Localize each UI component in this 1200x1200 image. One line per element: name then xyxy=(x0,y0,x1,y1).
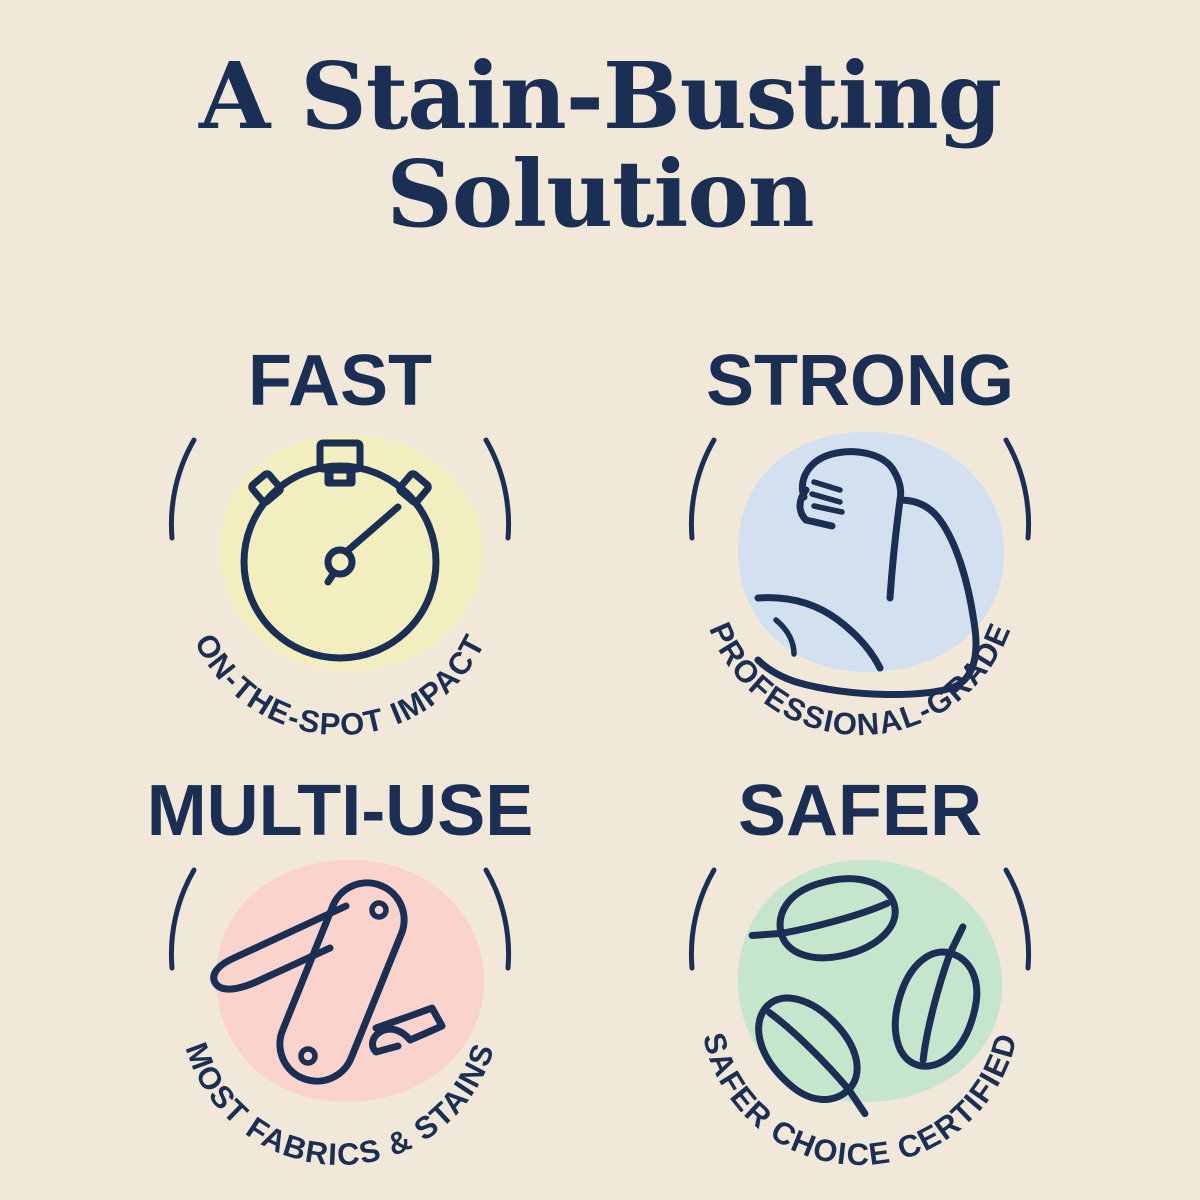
title-line-1: A Stain-Busting xyxy=(199,42,1001,150)
badge-arc-right-strong xyxy=(1006,440,1029,538)
badge-arc-left-strong xyxy=(691,440,714,538)
infographic-page: A Stain-Busting Solution FAST ON-THE-SPO… xyxy=(0,0,1200,1200)
badge-heading-strong: STRONG xyxy=(706,341,1014,421)
badge-blob-strong xyxy=(738,432,1004,672)
page-title: A Stain-Busting Solution xyxy=(0,48,1200,243)
badge-heading-multi-use: MULTI-USE xyxy=(147,771,534,851)
badge-heading-safer: SAFER xyxy=(738,771,982,851)
badge-arc-left-multi-use xyxy=(171,870,194,968)
badge-arc-right-safer xyxy=(1006,870,1029,968)
badge-heading-fast: FAST xyxy=(248,341,432,421)
badge-blob-safer xyxy=(738,860,1002,1102)
badge-arc-left-safer xyxy=(691,870,714,968)
title-line-2: Solution xyxy=(0,146,1200,244)
badge-multi-use: MULTI-USE MOST FABRICS & STAINS xyxy=(80,760,600,1190)
badge-grid: FAST ON-THE-SPOT IMPACT xyxy=(0,330,1200,1200)
badge-arc-right-fast xyxy=(486,440,509,538)
badge-arc-right-multi-use xyxy=(486,870,509,968)
badge-strong: STRONG PROFESSIONAL-GRADE xyxy=(600,330,1120,760)
badge-fast: FAST ON-THE-SPOT IMPACT xyxy=(80,330,600,760)
badge-safer: SAFER SAFER CHOICE CERTIFIED xyxy=(600,760,1120,1190)
badge-arc-left-fast xyxy=(171,440,194,538)
